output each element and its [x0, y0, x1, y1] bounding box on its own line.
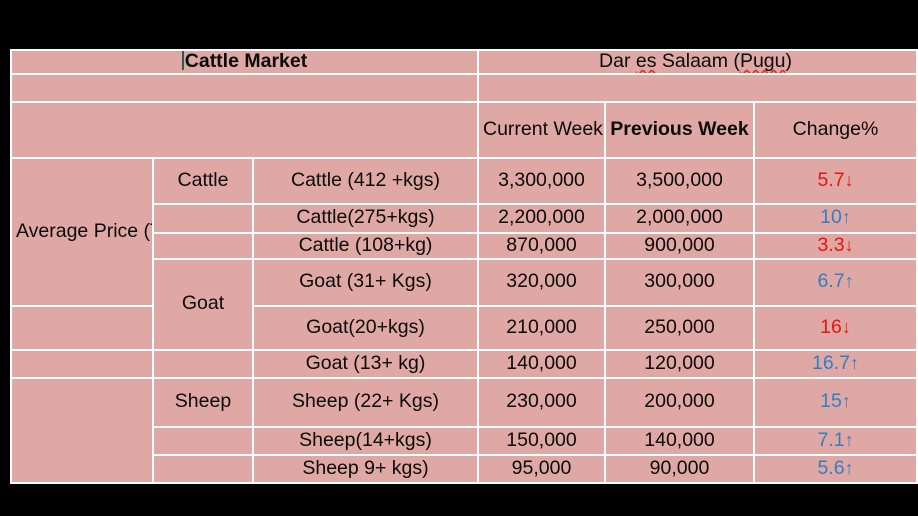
value-current-week: 150,000: [479, 428, 604, 454]
spacer-cell-right: [479, 75, 916, 101]
arrow-up-icon: ↑: [845, 458, 854, 478]
title-location-misspelled-pugu: Pugu: [740, 51, 786, 72]
item-name: Sheep(14+kgs): [254, 428, 477, 454]
arrow-down-icon: ↓: [842, 317, 851, 337]
row-label-spacer: [12, 351, 152, 377]
group-label-empty: [154, 234, 252, 258]
value-previous-week: 90,000: [606, 456, 753, 482]
title-location-part-1: Dar: [599, 51, 636, 72]
change-value: 3.3: [817, 234, 844, 256]
column-header-blank: [12, 103, 477, 157]
item-name: Cattle (108+kg): [254, 234, 477, 258]
value-current-week: 870,000: [479, 234, 604, 258]
group-label-goat: Goat: [154, 260, 252, 349]
column-header-change-percent: Change%: [755, 103, 916, 157]
row-label-spacer: [12, 379, 152, 482]
group-label-empty: [154, 428, 252, 454]
arrow-up-icon: ↑: [842, 207, 851, 227]
value-change-percent: 10↑: [755, 205, 916, 232]
change-value: 15: [820, 390, 842, 412]
value-change-percent: 6.7↑: [755, 260, 916, 305]
item-name: Sheep 9+ kgs): [254, 456, 477, 482]
value-current-week: 230,000: [479, 379, 604, 426]
change-value: 16.7: [812, 352, 850, 374]
group-label-cattle: Cattle: [154, 159, 252, 203]
title-location-part-5: ): [785, 51, 792, 72]
value-previous-week: 200,000: [606, 379, 753, 426]
value-change-percent: 3.3↓: [755, 234, 916, 258]
table-row: Goat (13+ kg) 140,000 120,000 16.7↑: [12, 351, 916, 377]
value-change-percent: 7.1↑: [755, 428, 916, 454]
table-row: Sheep Sheep (22+ Kgs) 230,000 200,000 15…: [12, 379, 916, 426]
column-header-previous-week: Previous Week: [606, 103, 753, 157]
group-label-empty: [154, 456, 252, 482]
value-change-percent: 16↓: [755, 307, 916, 349]
text-cursor: [182, 51, 184, 70]
value-current-week: 95,000: [479, 456, 604, 482]
item-name: Cattle (412 +kgs): [254, 159, 477, 203]
group-label-empty: [154, 351, 252, 377]
title-cattle-market[interactable]: Cattle Market: [12, 51, 477, 73]
item-name: Goat (31+ Kgs): [254, 260, 477, 305]
item-name: Sheep (22+ Kgs): [254, 379, 477, 426]
arrow-up-icon: ↑: [845, 430, 854, 450]
table-row: Goat(20+kgs) 210,000 250,000 16↓: [12, 307, 916, 349]
arrow-up-icon: ↑: [842, 391, 851, 411]
change-value: 16: [820, 316, 842, 338]
column-header-current-week: Current Week: [479, 103, 604, 157]
value-change-percent: 5.7↓: [755, 159, 916, 203]
item-name: Goat (13+ kg): [254, 351, 477, 377]
row-label-spacer: [12, 307, 152, 349]
title-location-misspelled-es: es: [636, 51, 657, 72]
value-previous-week: 250,000: [606, 307, 753, 349]
item-name: Goat(20+kgs): [254, 307, 477, 349]
spacer-cell-left: [12, 75, 477, 101]
value-current-week: 3,300,000: [479, 159, 604, 203]
value-current-week: 2,200,000: [479, 205, 604, 232]
table-title-row: Cattle Market Dar es Salaam (Pugu): [12, 51, 916, 73]
market-price-table: Cattle Market Dar es Salaam (Pugu) Curre…: [10, 49, 918, 484]
value-previous-week: 140,000: [606, 428, 753, 454]
value-previous-week: 900,000: [606, 234, 753, 258]
arrow-up-icon: ↑: [850, 353, 859, 373]
arrow-up-icon: ↑: [845, 271, 854, 291]
market-price-table-frame: Cattle Market Dar es Salaam (Pugu) Curre…: [10, 49, 908, 474]
table-spacer-row: [12, 75, 916, 101]
group-label-empty: [154, 205, 252, 232]
table-row: Average Price (Tanzania Shilling) Cattle…: [12, 159, 916, 203]
value-previous-week: 2,000,000: [606, 205, 753, 232]
value-previous-week: 3,500,000: [606, 159, 753, 203]
value-previous-week: 120,000: [606, 351, 753, 377]
arrow-down-icon: ↓: [845, 170, 854, 190]
change-value: 10: [820, 206, 842, 228]
arrow-down-icon: ↓: [845, 235, 854, 255]
value-change-percent: 5.6↑: [755, 456, 916, 482]
change-value: 7.1: [817, 429, 844, 451]
value-current-week: 140,000: [479, 351, 604, 377]
group-label-sheep: Sheep: [154, 379, 252, 426]
change-value: 5.6: [817, 457, 844, 479]
value-current-week: 320,000: [479, 260, 604, 305]
value-previous-week: 300,000: [606, 260, 753, 305]
title-cattle-market-label: Cattle Market: [185, 51, 307, 72]
value-change-percent: 16.7↑: [755, 351, 916, 377]
title-location-part-3: Salaam (: [656, 51, 739, 72]
table-column-header-row: Current Week Previous Week Change%: [12, 103, 916, 157]
title-market-location[interactable]: Dar es Salaam (Pugu): [479, 51, 916, 73]
change-value: 6.7: [817, 270, 844, 292]
item-name: Cattle(275+kgs): [254, 205, 477, 232]
value-current-week: 210,000: [479, 307, 604, 349]
value-change-percent: 15↑: [755, 379, 916, 426]
slide-canvas: Cattle Market Dar es Salaam (Pugu) Curre…: [0, 0, 918, 516]
change-value: 5.7: [817, 169, 844, 191]
row-label-average-price: Average Price (Tanzania Shilling): [12, 159, 152, 305]
